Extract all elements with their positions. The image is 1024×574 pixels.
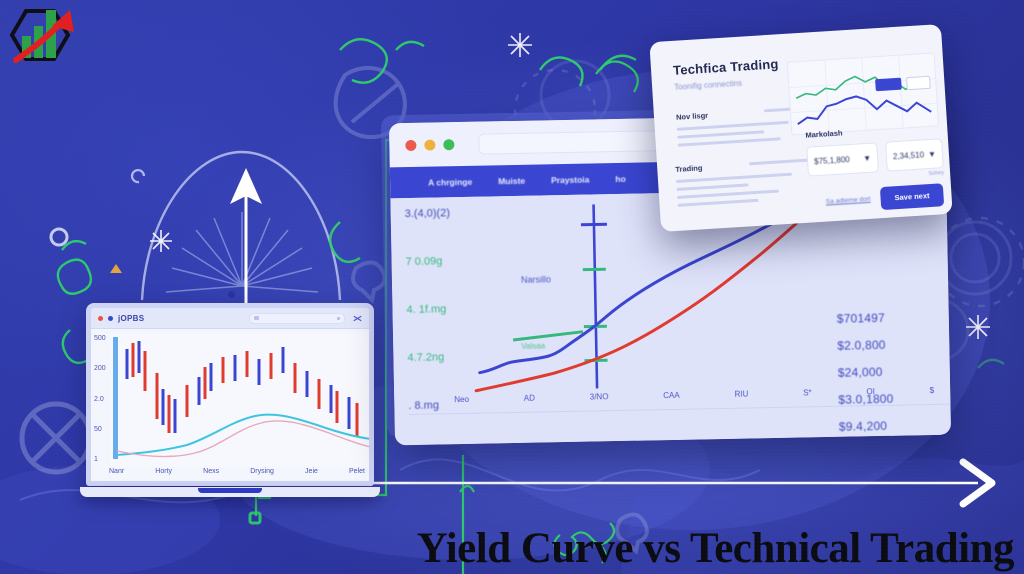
x-tick: Nexs — [203, 468, 219, 475]
placeholder-line — [677, 183, 749, 191]
price-item: $2.0,800 — [837, 338, 886, 353]
x-tick: AD — [524, 394, 535, 403]
y-tick: 200 — [94, 365, 106, 372]
range-bar-secondary[interactable] — [300, 481, 364, 486]
x-tick: OI — [866, 387, 875, 396]
page-title: Yield Curve vs Technical Trading — [417, 527, 1014, 570]
laptop-mockup: jOPBS 500 200 2.0 50 1 — [80, 303, 380, 503]
x-tick: S* — [803, 388, 812, 397]
nav-item-brand[interactable]: A chrginge — [428, 176, 472, 187]
range-bar-primary[interactable] — [109, 481, 289, 486]
nav-item-portfolio[interactable]: Praystoia — [551, 174, 589, 185]
minimize-traffic-light-icon[interactable] — [424, 139, 435, 150]
price-list: $701497 $2.0,800 $24,000 $3.0,1800 $9.4,… — [837, 310, 943, 434]
markolash-section: Markolash $75,1,800 ▼ 2,34,510 ▼ Sohey — [805, 122, 944, 184]
laptop-app-titlebar: jOPBS — [91, 308, 369, 329]
save-button[interactable]: Save next — [880, 183, 944, 210]
chevron-down-icon: ▼ — [863, 153, 871, 162]
laptop-chart-x-axis: Nanr Horty Nexs Drysing Jeie Pelet — [109, 468, 365, 475]
secondary-link[interactable]: Sa adterne dort — [826, 196, 871, 206]
close-traffic-light-icon[interactable] — [405, 139, 416, 150]
y-tick: 500 — [94, 335, 106, 342]
poster-canvas: jOPBS 500 200 2.0 50 1 — [0, 0, 1024, 574]
card-actions: Sa adterne dort Save next — [825, 183, 944, 213]
x-tick: Neo — [454, 395, 469, 404]
x-tick: Drysing — [250, 468, 274, 475]
placeholder-lines — [677, 121, 790, 147]
laptop-chart-area: 500 200 2.0 50 1 Nan — [91, 329, 369, 486]
x-tick: Jeie — [305, 468, 318, 475]
y-tick: 1 — [94, 456, 106, 463]
nav-item-markets[interactable]: Muiste — [498, 175, 525, 186]
y-tick: 2.0 — [94, 396, 106, 403]
placeholder-line — [677, 121, 789, 131]
amount-select-right[interactable]: 2,34,510 ▼ — [885, 138, 944, 172]
laptop-range-slider[interactable] — [109, 481, 363, 486]
nav-item-more[interactable]: ho — [615, 173, 626, 183]
price-item: $701497 — [837, 311, 885, 326]
status-dot-blue-icon — [108, 316, 113, 321]
laptop-search-input[interactable] — [249, 313, 345, 324]
price-item: $9.4,200 — [839, 419, 888, 434]
x-tick: $ — [930, 386, 935, 395]
mini-chart-action-button[interactable] — [875, 78, 902, 92]
search-icon — [254, 316, 259, 320]
y-tick: 7 0.09g — [406, 255, 451, 268]
price-item: $24,000 — [838, 365, 883, 380]
laptop-app-title: jOPBS — [118, 314, 144, 323]
x-tick: CAA — [663, 391, 680, 400]
main-chart-y-axis: 3.(4,0)(2) 7 0.09g 4. 1f.mg 4.7.2ng . 8.… — [405, 207, 454, 412]
placeholder-line — [676, 173, 792, 183]
settings-sliders-icon[interactable] — [353, 314, 362, 323]
chevron-down-icon: ▼ — [928, 149, 936, 158]
x-tick: Pelet — [349, 468, 365, 475]
card-trading-group: Trading — [675, 158, 793, 207]
x-tick: Nanr — [109, 468, 124, 475]
y-tick: 4.7.2ng — [407, 351, 452, 364]
placeholder-line — [677, 190, 779, 199]
hexagon-bar-chart-arrow-logo — [4, 2, 88, 68]
amount-select-left-value: $75,1,800 — [814, 155, 850, 166]
amount-select-right-value: 2,34,510 — [893, 150, 925, 161]
dome-rays-decor — [142, 152, 340, 300]
mini-chart-legend-box — [906, 76, 931, 90]
maximize-traffic-light-icon[interactable] — [443, 139, 454, 150]
laptop-trackpad-notch — [198, 488, 262, 493]
card-heading-group: Nov lisgr — [676, 106, 790, 147]
laptop-chart-y-axis: 500 200 2.0 50 1 — [94, 335, 106, 463]
laptop-candlestick-chart — [111, 333, 373, 467]
placeholder-line — [677, 130, 764, 138]
card-surface: Techfica Trading Toonifig connectins Nov… — [649, 24, 952, 232]
y-tick: 4. 1f.mg — [406, 303, 451, 316]
x-tick: RIU — [734, 390, 748, 399]
placeholder-line — [678, 199, 759, 207]
y-tick: 50 — [94, 426, 106, 433]
x-tick: 3/NO — [590, 392, 609, 401]
laptop-screen: jOPBS 500 200 2.0 50 1 — [86, 303, 374, 486]
up-arrow-decor — [230, 168, 262, 305]
clear-icon[interactable] — [337, 317, 340, 320]
laptop-camera — [228, 291, 235, 298]
status-dot-red-icon — [98, 316, 103, 321]
x-tick: Horty — [155, 468, 172, 475]
y-tick: 3.(4,0)(2) — [405, 207, 450, 220]
trading-settings-card: Techfica Trading Toonifig connectins Nov… — [649, 24, 952, 232]
amount-select-right-note: Sohey — [887, 170, 944, 180]
chart-series-label-valsaa: Valsaa — [521, 341, 545, 350]
placeholder-line — [678, 137, 781, 146]
amount-select-left[interactable]: $75,1,800 ▼ — [806, 142, 879, 176]
placeholder-lines — [676, 173, 793, 207]
chart-annotation-narello: Narsillo — [521, 274, 551, 285]
select-row: $75,1,800 ▼ 2,34,510 ▼ Sohey — [806, 138, 944, 184]
y-tick: . 8.mg — [408, 399, 453, 412]
